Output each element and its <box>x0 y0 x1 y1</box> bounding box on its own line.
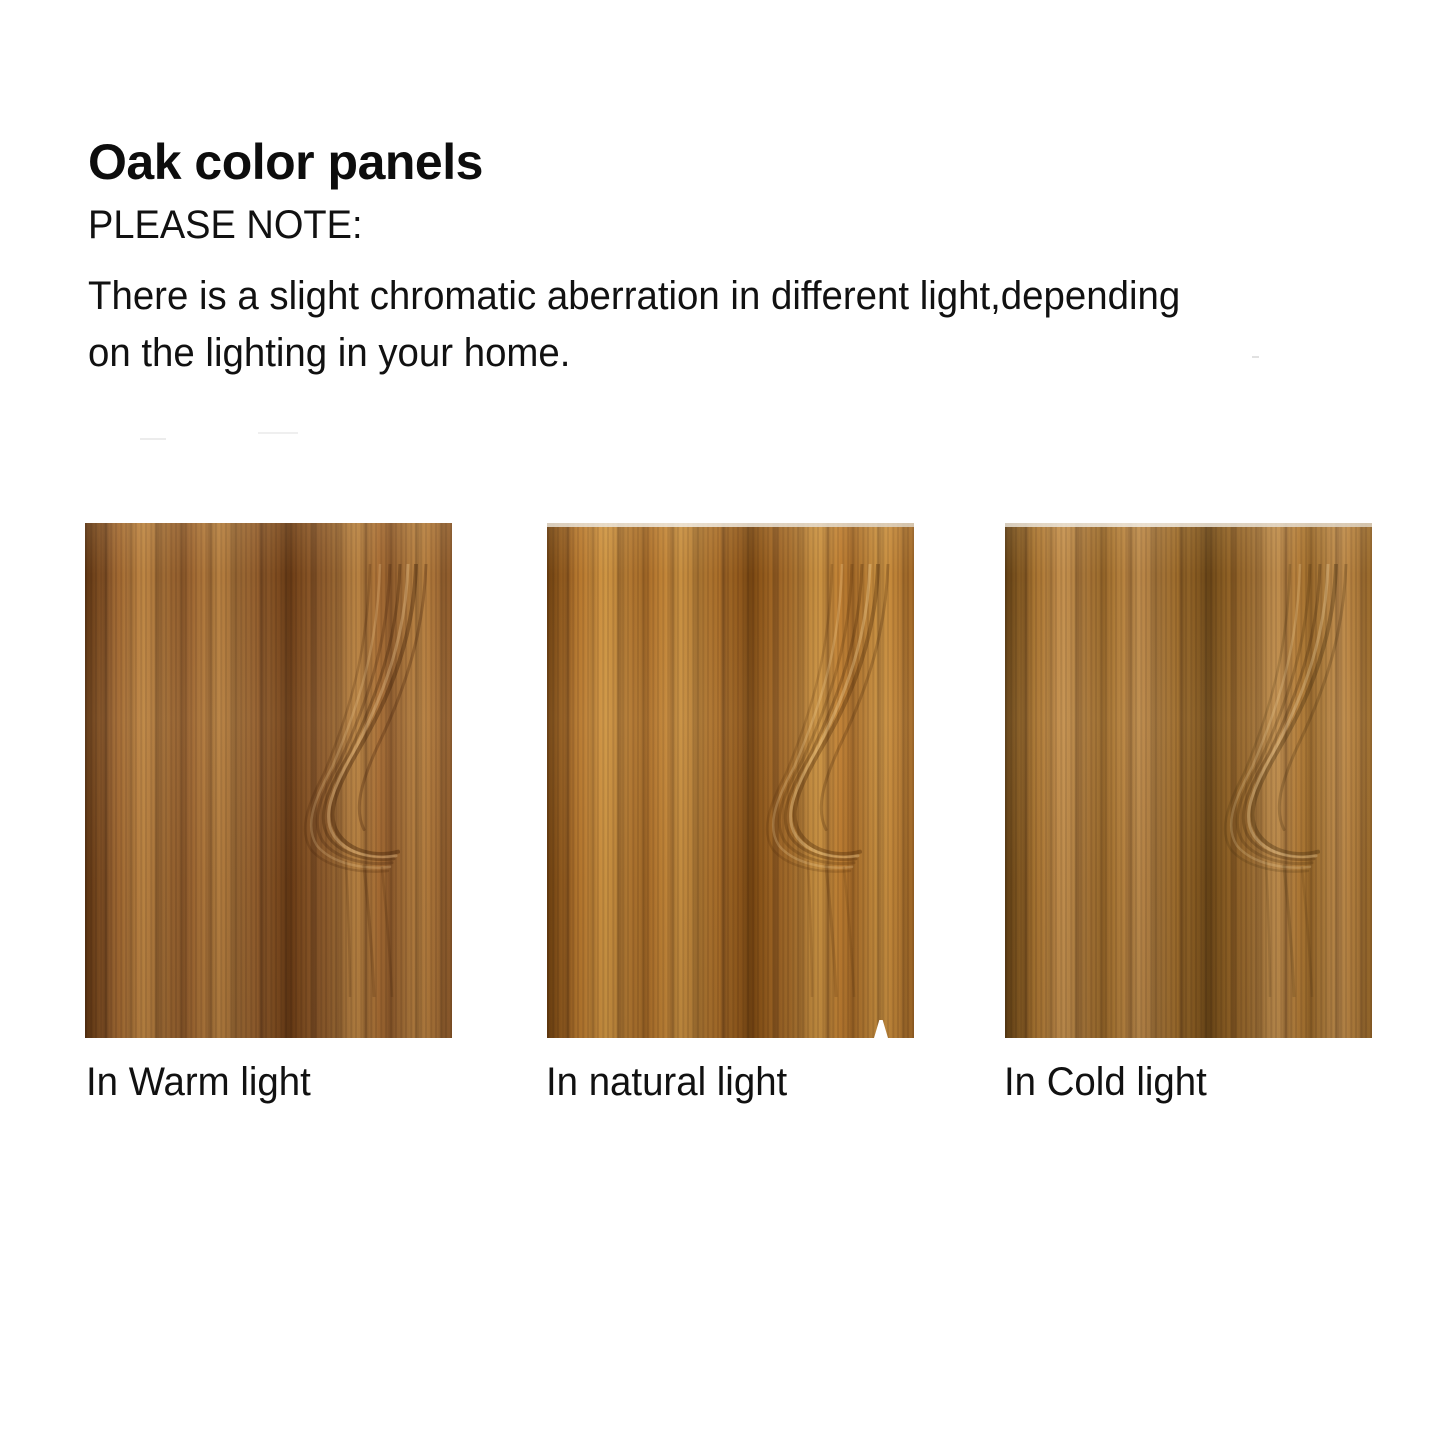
panel-top-edge-highlight <box>547 523 914 527</box>
scan-artifact-speck <box>258 432 298 434</box>
wood-shading <box>1005 523 1372 1038</box>
wood-shading <box>85 523 452 1038</box>
page-title: Oak color panels <box>88 134 483 190</box>
please-note-label: PLEASE NOTE: <box>88 202 363 248</box>
panel-caption-natural-light: In natural light <box>546 1058 787 1106</box>
wood-panel-natural-light <box>547 523 914 1038</box>
panel-caption-warm-light: In Warm light <box>86 1058 311 1106</box>
product-color-swatch-page: Oak color panels PLEASE NOTE: There is a… <box>0 0 1445 1445</box>
disclaimer-text: There is a slight chromatic aberration i… <box>88 268 1269 382</box>
disclaimer-line-1: There is a slight chromatic aberration i… <box>88 268 1269 325</box>
scan-artifact-speck <box>1252 356 1259 358</box>
panel-caption-cold-light: In Cold light <box>1004 1058 1207 1106</box>
panel-top-edge-highlight <box>1005 523 1372 527</box>
scan-artifact-speck <box>140 438 166 440</box>
wood-shading <box>547 523 914 1038</box>
wood-panel-warm-light <box>85 523 452 1038</box>
wood-panel-cold-light <box>1005 523 1372 1038</box>
disclaimer-line-2: on the lighting in your home. <box>88 325 1269 382</box>
